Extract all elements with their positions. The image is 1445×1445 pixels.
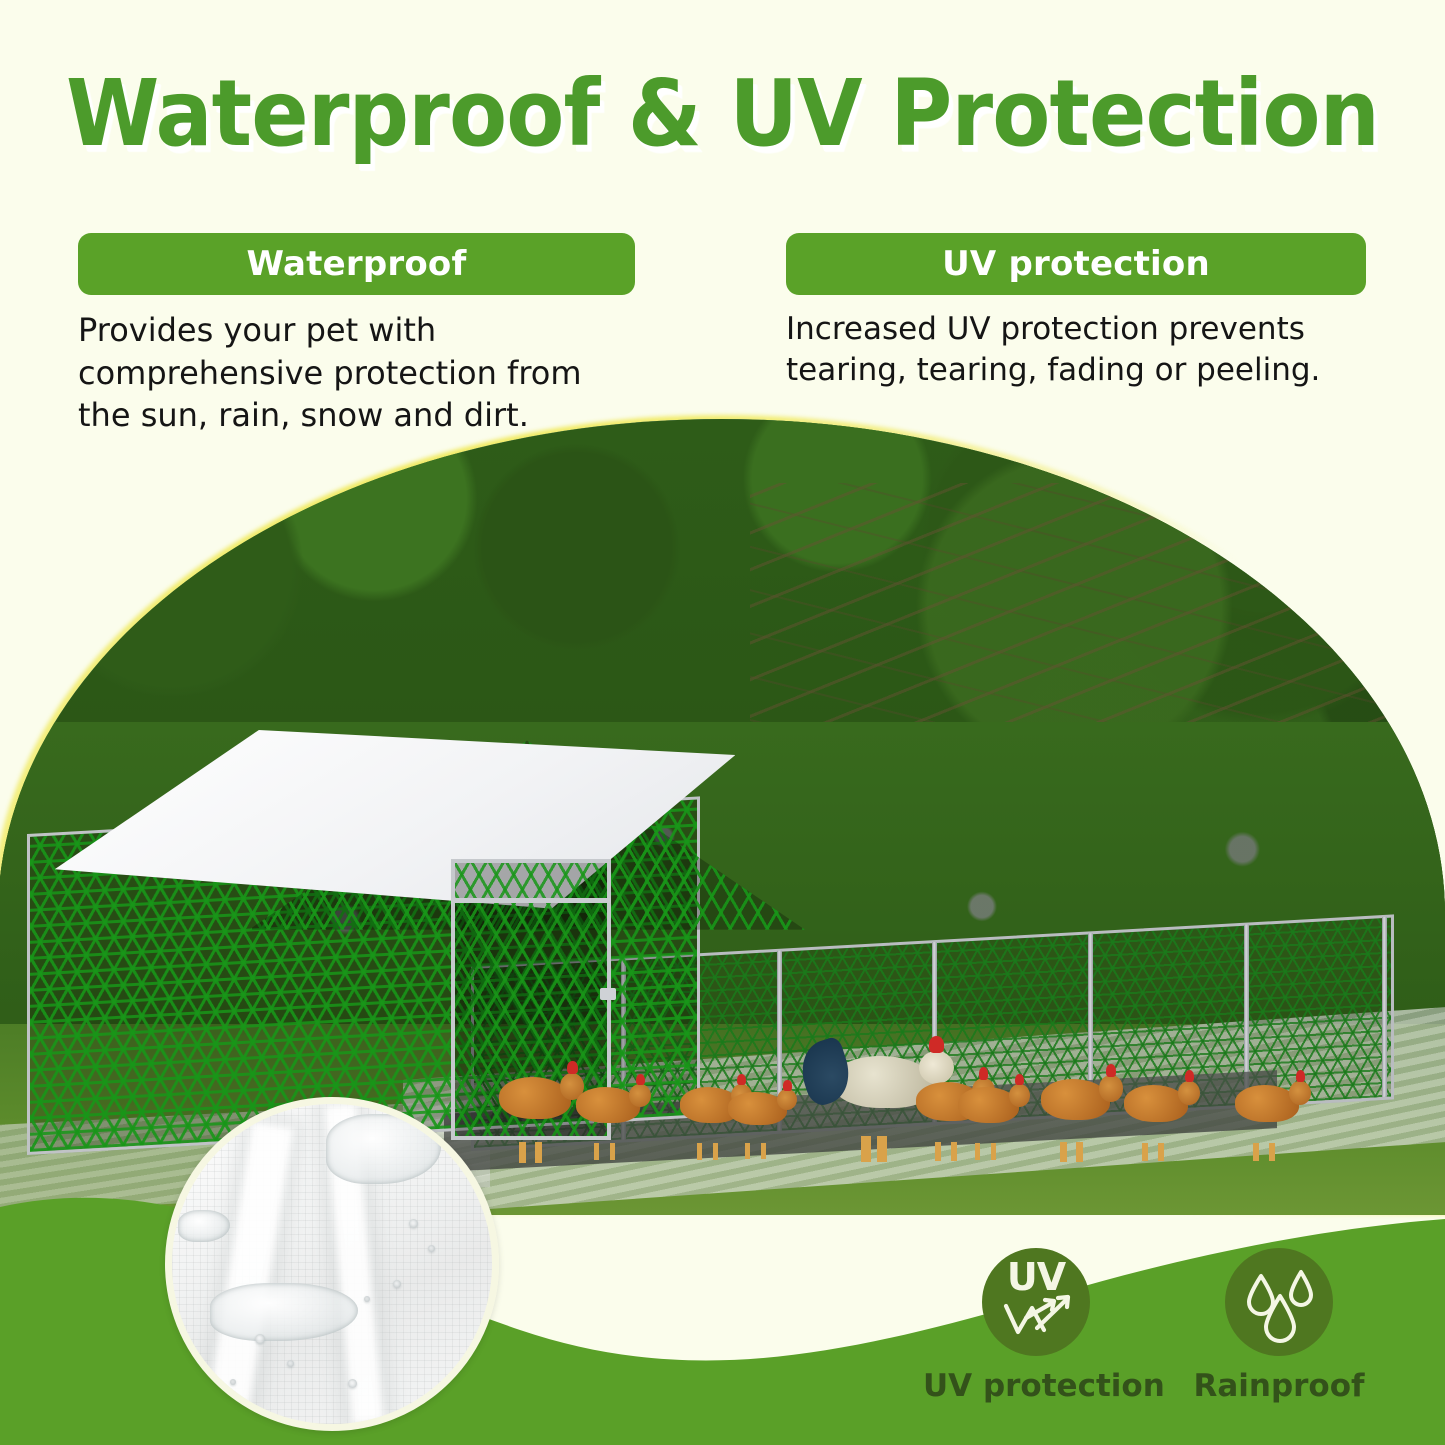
run-post <box>1382 916 1387 1097</box>
feature-block-uv: UV protection Increased UV protection pr… <box>786 233 1366 391</box>
door-latch <box>600 988 616 1000</box>
water-spill <box>178 1210 229 1242</box>
door-top-bar <box>451 898 612 903</box>
rainproof-droplets-icon <box>1225 1248 1333 1356</box>
feature-badge-waterproof: Waterproof <box>78 233 635 295</box>
water-droplet <box>393 1280 401 1288</box>
water-droplet <box>409 1219 418 1228</box>
feature-block-waterproof: Waterproof Provides your pet with compre… <box>78 233 635 437</box>
chicken-coop <box>27 646 1416 1171</box>
feature-badge-uv: UV protection <box>786 233 1366 295</box>
water-droplet <box>364 1296 370 1302</box>
infographic-canvas: Waterproof & UV Protection Waterproof Pr… <box>0 0 1445 1445</box>
garden-scene <box>0 419 1445 1215</box>
feature-body-uv: Increased UV protection prevents tearing… <box>786 309 1366 391</box>
chicken <box>1235 1085 1299 1145</box>
chicken <box>499 1077 571 1145</box>
chicken <box>958 1087 1019 1145</box>
water-droplet <box>428 1245 435 1252</box>
product-photo <box>0 415 1445 1215</box>
chicken <box>576 1087 640 1145</box>
chicken <box>728 1092 786 1145</box>
water-droplet <box>230 1379 236 1385</box>
photo-arch-clip <box>0 419 1445 1215</box>
chicken <box>1124 1085 1188 1145</box>
uv-arrows-icon <box>982 1248 1090 1356</box>
waterproof-fabric-inset <box>165 1097 499 1431</box>
droplets-icon <box>1225 1248 1333 1356</box>
chicken <box>1041 1079 1110 1145</box>
badge-uv-protection: UV UV protection <box>923 1248 1149 1404</box>
page-title: Waterproof & UV Protection <box>58 60 1387 167</box>
badge-label-uv: UV protection <box>923 1368 1149 1404</box>
uv-protection-icon: UV <box>982 1248 1090 1356</box>
badge-rainproof: Rainproof <box>1179 1248 1379 1404</box>
badge-label-rainproof: Rainproof <box>1179 1368 1379 1404</box>
